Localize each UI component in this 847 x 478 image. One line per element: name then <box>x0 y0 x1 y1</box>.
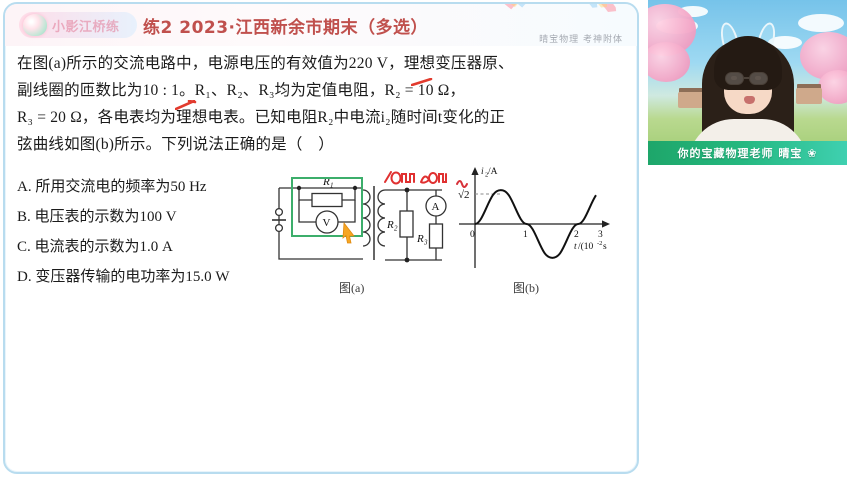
x-tick-2: 2 <box>574 230 579 240</box>
option-b[interactable]: B. 电压表的示数为100 V <box>17 202 267 232</box>
stem-line: 副线圈的匝数比为10 : 1。R₁、R₂、R₃均为定值电阻，R₂ = 10 Ω， <box>17 77 631 104</box>
figure-b-caption: 图(b) <box>513 279 539 296</box>
stem-line: 在图(a)所示的交流电路中，电源电压的有效值为220 V，理想变压器原、 <box>17 50 631 77</box>
document-panel: 小影江桥练 练2 2023·江西新余市期末（多选） 晴宝物理 考神附体 在图(a… <box>3 2 639 474</box>
svg-text:2: 2 <box>394 225 398 233</box>
sine-curve-tail <box>596 190 612 195</box>
brand-logo: 小影江桥练 <box>19 12 137 38</box>
cloud-shape <box>798 14 844 32</box>
r3-label: R <box>416 233 424 245</box>
video-panel[interactable]: 你的宝藏物理老师 晴宝 ❀ <box>648 0 847 165</box>
r2-label: R <box>386 219 394 231</box>
svg-text:3: 3 <box>423 239 428 247</box>
option-c[interactable]: C. 电流表的示数为1.0 A <box>17 232 267 262</box>
glasses-left-lens <box>725 72 744 85</box>
page-title: 练2 2023·江西新余市期末（多选） <box>143 13 428 38</box>
x-tick-0: 0 <box>470 230 475 240</box>
x-tick-3: 3 <box>598 230 603 240</box>
ink-annotation-r2 <box>385 172 414 184</box>
presenter-name-banner: 你的宝藏物理老师 晴宝 ❀ <box>648 141 847 165</box>
screen-root: 小影江桥练 练2 2023·江西新余市期末（多选） 晴宝物理 考神附体 在图(a… <box>0 0 847 478</box>
svg-text:s: s <box>603 242 607 252</box>
pagoda-building <box>796 88 822 104</box>
svg-text:1: 1 <box>330 182 334 190</box>
svg-text:-2: -2 <box>597 240 602 247</box>
svg-text:/(10: /(10 <box>578 241 594 252</box>
logo-text: 小影江桥练 <box>52 16 120 35</box>
question-stem: 在图(a)所示的交流电路中，电源电压的有效值为220 V，理想变压器原、 副线圈… <box>17 50 631 158</box>
glasses-bridge <box>744 77 749 79</box>
y-axis-arrow <box>471 167 478 175</box>
option-d[interactable]: D. 变压器传输的电功率为15.0 W <box>17 262 267 292</box>
sine-chart: i 2 /A √2 0 1 2 3 t /(10 -2 s <box>453 162 623 278</box>
ammeter-label: A <box>432 201 440 213</box>
option-a[interactable]: A. 所用交流电的频率为50 Hz <box>17 172 267 202</box>
ink-squiggle <box>457 181 467 187</box>
stem-line: 弦曲线如图(b)所示。下列说法正确的是（ ） <box>17 131 631 158</box>
presenter-name-text: 你的宝藏物理老师 晴宝 ❀ <box>678 145 818 161</box>
answer-options: A. 所用交流电的频率为50 Hz B. 电压表的示数为100 V C. 电流表… <box>17 172 267 292</box>
x-tick-1: 1 <box>523 230 528 240</box>
x-axis-label: t <box>574 242 577 252</box>
stem-line: R₃ = 20 Ω，各电表均为理想电表。已知电阻R₂中电流i₂随时间t变化的正 <box>17 104 631 131</box>
cursor-arrow-icon <box>342 222 356 244</box>
y-axis-label: i <box>481 167 484 177</box>
watermark-text: 晴宝物理 考神附体 <box>539 32 623 45</box>
logo-ball-icon <box>23 14 47 36</box>
ink-annotation-r3 <box>421 173 446 183</box>
amplitude-tick-label: √2 <box>458 189 470 201</box>
mouth <box>744 96 755 104</box>
rainbow-decoration <box>482 2 629 55</box>
x-axis-arrow <box>602 220 610 227</box>
svg-text:/A: /A <box>488 167 498 177</box>
glasses-right-lens <box>749 72 768 85</box>
voltmeter-label: V <box>323 217 331 229</box>
circuit-diagram: R 1 V A R 2 R 3 <box>267 166 447 278</box>
document-header: 小影江桥练 练2 2023·江西新余市期末（多选） 晴宝物理 考神附体 <box>5 4 637 46</box>
figure-a-caption: 图(a) <box>339 279 364 296</box>
